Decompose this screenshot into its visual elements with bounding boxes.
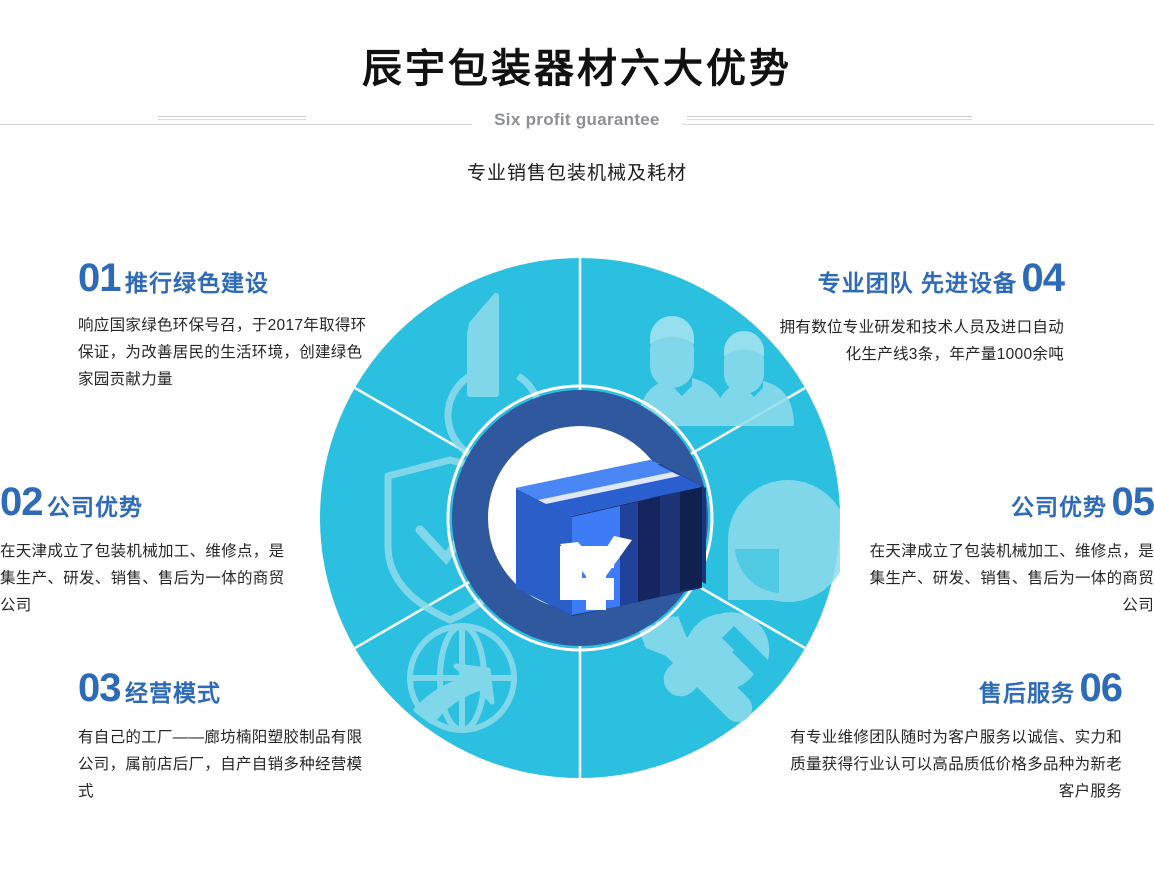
advantage-item-06-description: 有专业维修团队随时为客户服务以诚信、实力和质量获得行业认可以高品质低价格多品种为… bbox=[790, 724, 1122, 805]
subtitle-english-text: Six profit guarantee bbox=[472, 110, 682, 129]
advantage-item-05-label: 公司优势 bbox=[1011, 494, 1107, 520]
advantage-item-05-number: 05 bbox=[1112, 480, 1154, 524]
header: 辰宇包装器材六大优势 Six profit guarantee 专业销售包装机械… bbox=[0, 0, 1154, 210]
advantage-item-04-description: 拥有数位专业研发和技术人员及进口自动化生产线3条，年产量1000余吨 bbox=[776, 314, 1064, 368]
advantage-item-03-description: 有自己的工厂——廊坊楠阳塑胶制品有限公司，属前店后厂，自产自销多种经营模式 bbox=[78, 724, 378, 805]
advantage-item-01-number: 01 bbox=[78, 256, 121, 300]
advantage-item-05-description: 在天津成立了包装机械加工、维修点，是集生产、研发、销售、售后为一体的商贸公司 bbox=[857, 538, 1154, 619]
advantage-item-01-label: 推行绿色建设 bbox=[125, 270, 269, 296]
advantage-item-03: 03 经营模式 有自己的工厂——廊坊楠阳塑胶制品有限公司，属前店后厂，自产自销多… bbox=[78, 668, 378, 805]
subtitle-english: Six profit guarantee bbox=[0, 110, 1154, 130]
page-title: 辰宇包装器材六大优势 bbox=[0, 36, 1154, 94]
advantage-item-02-label: 公司优势 bbox=[47, 494, 143, 520]
advantage-item-04-heading: 专业团队 先进设备 04 bbox=[776, 258, 1064, 298]
advantage-item-03-number: 03 bbox=[78, 666, 121, 710]
advantage-item-06-label: 售后服务 bbox=[979, 680, 1075, 706]
advantage-wheel bbox=[320, 258, 840, 778]
advantage-item-05-heading: 公司优势 05 bbox=[857, 482, 1154, 522]
advantage-item-03-label: 经营模式 bbox=[125, 680, 221, 706]
advantage-item-01-description: 响应国家绿色环保号召，于2017年取得环保证，为改善居民的生活环境，创建绿色家园… bbox=[78, 312, 368, 393]
advantage-item-01-heading: 01 推行绿色建设 bbox=[78, 258, 368, 298]
globe-arrow-icon bbox=[410, 626, 514, 730]
advantage-item-06: 售后服务 06 有专业维修团队随时为客户服务以诚信、实力和质量获得行业认可以高品… bbox=[790, 668, 1122, 805]
advantage-item-02: 02 公司优势 在天津成立了包装机械加工、维修点，是集生产、研发、销售、售后为一… bbox=[0, 482, 292, 619]
advantage-item-05: 公司优势 05 在天津成立了包装机械加工、维修点，是集生产、研发、销售、售后为一… bbox=[857, 482, 1154, 619]
advantage-item-06-heading: 售后服务 06 bbox=[790, 668, 1122, 708]
advantage-item-02-number: 02 bbox=[0, 480, 43, 524]
advantage-item-04-label: 专业团队 先进设备 bbox=[818, 270, 1017, 296]
advantage-item-04: 专业团队 先进设备 04 拥有数位专业研发和技术人员及进口自动化生产线3条，年产… bbox=[776, 258, 1064, 368]
advantage-item-02-description: 在天津成立了包装机械加工、维修点，是集生产、研发、销售、售后为一体的商贸公司 bbox=[0, 538, 292, 619]
advantage-item-01: 01 推行绿色建设 响应国家绿色环保号召，于2017年取得环保证，为改善居民的生… bbox=[78, 258, 368, 393]
cy-box-logo bbox=[516, 460, 706, 616]
advantage-item-02-heading: 02 公司优势 bbox=[0, 482, 292, 522]
advantage-item-04-number: 04 bbox=[1022, 256, 1065, 300]
subtitle-chinese: 专业销售包装机械及耗材 bbox=[0, 158, 1154, 185]
advantage-item-06-number: 06 bbox=[1080, 666, 1123, 710]
advantage-item-03-heading: 03 经营模式 bbox=[78, 668, 378, 708]
